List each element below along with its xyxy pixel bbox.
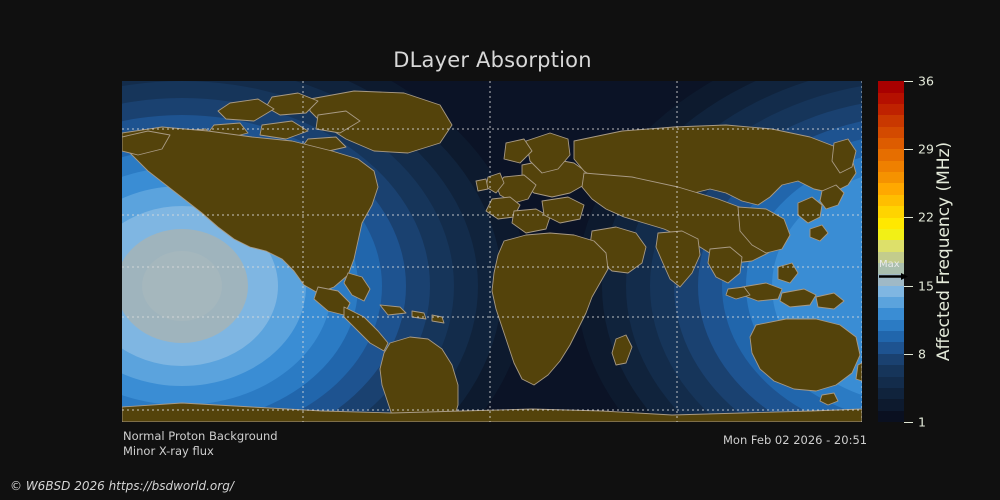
status-proton-background: Normal Proton Background <box>123 429 278 443</box>
colorbar-tick-mark-22 <box>904 217 913 218</box>
colorbar-band-25 <box>878 127 904 138</box>
colorbar-band-0 <box>878 411 904 422</box>
colorbar-band-15 <box>878 240 904 251</box>
colorbar-band-29 <box>878 81 904 92</box>
dlayer-absorption-figure: DLayer Absorption <box>0 0 1000 500</box>
status-xray-flux: Minor X-ray flux <box>123 444 214 458</box>
world-map-panel[interactable] <box>122 81 862 422</box>
colorbar-band-13 <box>878 263 904 274</box>
colorbar-band-16 <box>878 229 904 240</box>
colorbar[interactable] <box>878 81 904 422</box>
colorbar-band-17 <box>878 218 904 229</box>
colorbar-band-22 <box>878 161 904 172</box>
timestamp: Mon Feb 02 2026 - 20:51 <box>723 433 867 447</box>
colorbar-tick-mark-36 <box>904 81 913 82</box>
colorbar-band-20 <box>878 183 904 194</box>
colorbar-band-3 <box>878 377 904 388</box>
colorbar-band-18 <box>878 206 904 217</box>
colorbar-band-14 <box>878 252 904 263</box>
colorbar-band-5 <box>878 354 904 365</box>
colorbar-gradient <box>878 81 904 422</box>
copyright-notice: © W6BSD 2026 https://bsdworld.org/ <box>10 479 234 493</box>
colorbar-band-23 <box>878 149 904 160</box>
colorbar-band-26 <box>878 115 904 126</box>
colorbar-tick-label-8: 8 <box>918 346 926 361</box>
colorbar-tick-mark-29 <box>904 149 913 150</box>
colorbar-band-8 <box>878 320 904 331</box>
colorbar-band-24 <box>878 138 904 149</box>
colorbar-band-7 <box>878 331 904 342</box>
colorbar-band-1 <box>878 399 904 410</box>
colorbar-band-27 <box>878 104 904 115</box>
colorbar-band-19 <box>878 195 904 206</box>
colorbar-axis-label: Affected Frequency (MHz) <box>930 81 1000 422</box>
colorbar-band-28 <box>878 93 904 104</box>
colorbar-band-12 <box>878 274 904 285</box>
colorbar-tick-mark-1 <box>904 422 913 423</box>
colorbar-band-9 <box>878 308 904 319</box>
colorbar-tick-label-1: 1 <box>918 415 926 430</box>
world-map <box>122 81 862 422</box>
colorbar-band-11 <box>878 286 904 297</box>
colorbar-tick-mark-8 <box>904 354 913 355</box>
colorbar-band-6 <box>878 342 904 353</box>
page-title: DLayer Absorption <box>0 48 985 72</box>
colorbar-band-4 <box>878 365 904 376</box>
colorbar-band-10 <box>878 297 904 308</box>
colorbar-band-21 <box>878 172 904 183</box>
colorbar-tick-mark-15 <box>904 286 913 287</box>
colorbar-band-2 <box>878 388 904 399</box>
